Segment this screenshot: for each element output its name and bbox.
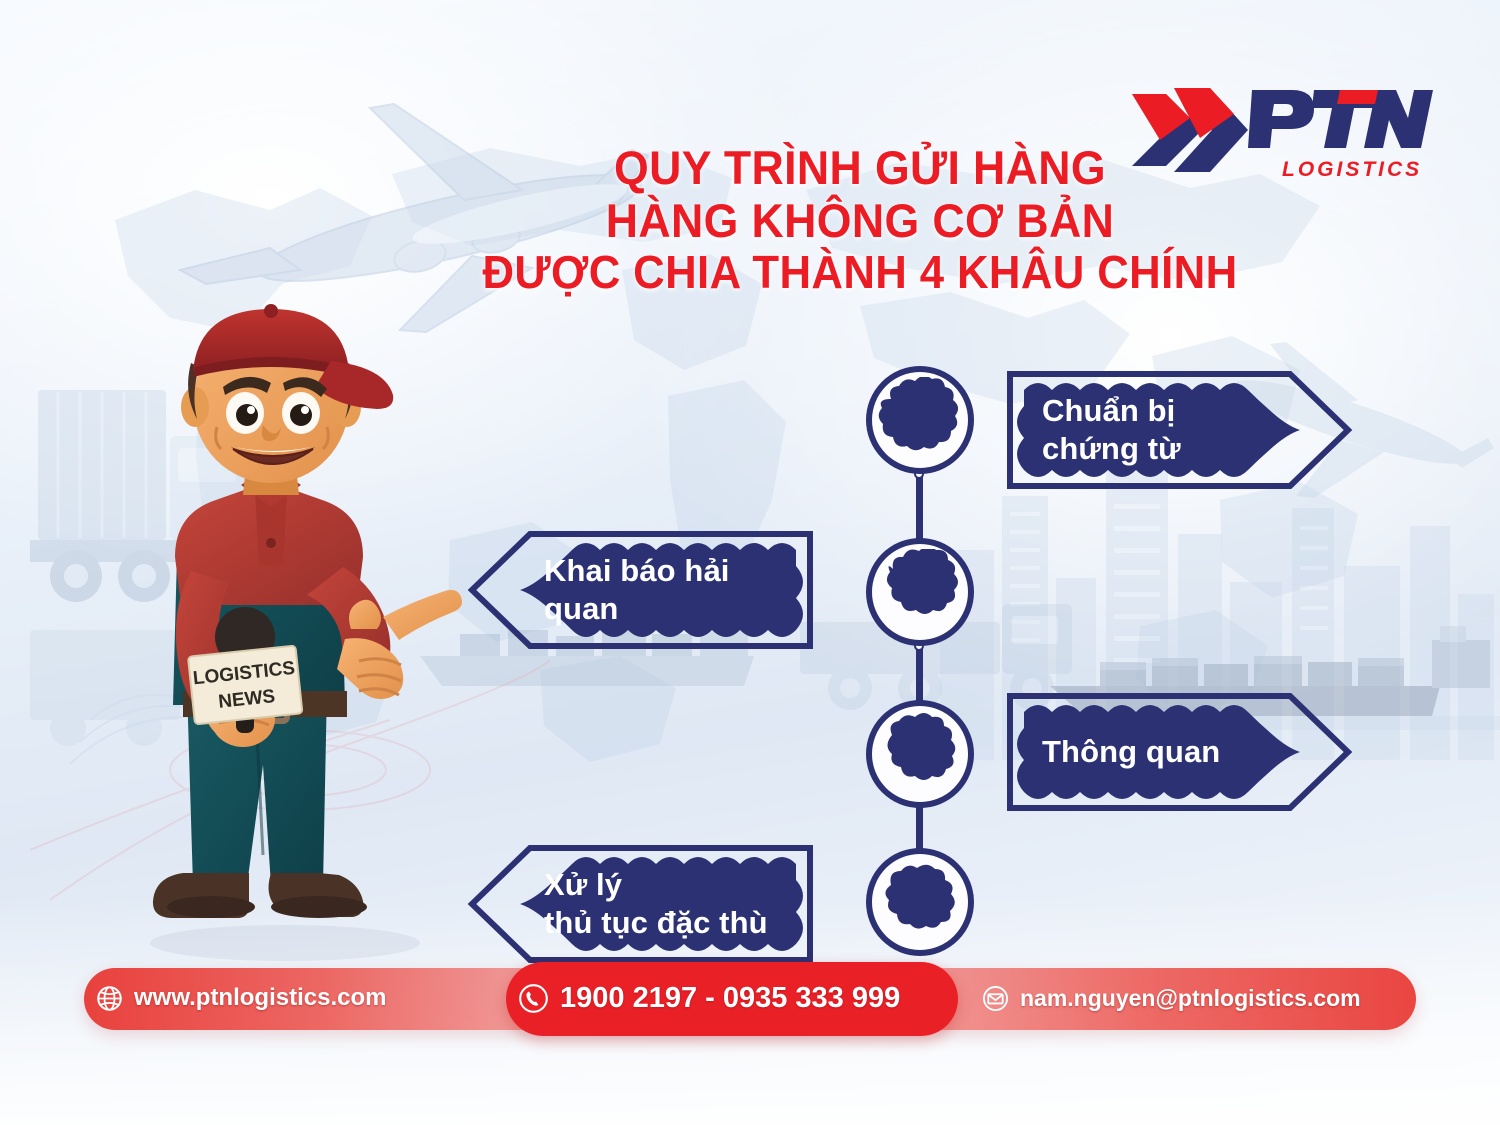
double-chevron-icon <box>1130 80 1250 180</box>
step-sign-1-label: Chuẩn bị chứng từ <box>1042 368 1278 492</box>
step-sign-4[interactable]: Xử lý thủ tục đặc thù <box>466 842 816 966</box>
scalloped-blob-icon <box>877 711 963 797</box>
step-sign-4-label: Xử lý thủ tục đặc thù <box>544 842 782 966</box>
timeline-node-3[interactable] <box>866 700 974 808</box>
mascot-illustration: LOGISTICS NEWS <box>95 295 465 967</box>
step-sign-2-label: Khai báo hải quan <box>544 528 782 652</box>
scalloped-blob-icon <box>877 549 963 635</box>
infographic-canvas: QUY TRÌNH GỬI HÀNG HÀNG KHÔNG CƠ BẢN ĐƯỢ… <box>0 0 1500 1125</box>
title-line-3: ĐƯỢC CHIA THÀNH 4 KHÂU CHÍNH <box>461 247 1259 299</box>
timeline-connector-2 <box>916 646 923 708</box>
step-sign-3[interactable]: Thông quan <box>1004 690 1354 814</box>
email-text: nam.nguyen@ptnlogistics.com <box>1020 985 1361 1012</box>
website-text: www.ptnlogistics.com <box>134 984 386 1012</box>
phone-text: 1900 2197 - 0935 333 999 <box>560 982 900 1015</box>
title-line-2: HÀNG KHÔNG CƠ BẢN <box>461 195 1259 248</box>
mascot-reporter: LOGISTICS NEWS <box>95 295 465 967</box>
logo-wordmark: LOGISTICS <box>1248 78 1433 186</box>
contact-phone[interactable]: 1900 2197 - 0935 333 999 <box>518 982 900 1015</box>
step-sign-3-label: Thông quan <box>1042 690 1278 814</box>
scalloped-blob-icon <box>877 859 963 945</box>
envelope-icon <box>982 985 1009 1012</box>
timeline-node-1[interactable] <box>866 366 974 474</box>
step-sign-1[interactable]: Chuẩn bị chứng từ <box>1004 368 1354 492</box>
contact-website[interactable]: www.ptnlogistics.com <box>96 984 386 1012</box>
step-sign-2[interactable]: Khai báo hải quan <box>466 528 816 652</box>
contact-email[interactable]: nam.nguyen@ptnlogistics.com <box>982 985 1361 1012</box>
timeline-node-2[interactable] <box>866 538 974 646</box>
timeline-node-4[interactable] <box>866 848 974 956</box>
brand-logo[interactable]: LOGISTICS <box>1130 72 1430 194</box>
globe-icon <box>96 985 123 1012</box>
phone-icon <box>518 983 549 1014</box>
scalloped-blob-icon <box>877 377 963 463</box>
svg-text:LOGISTICS: LOGISTICS <box>1282 158 1422 181</box>
